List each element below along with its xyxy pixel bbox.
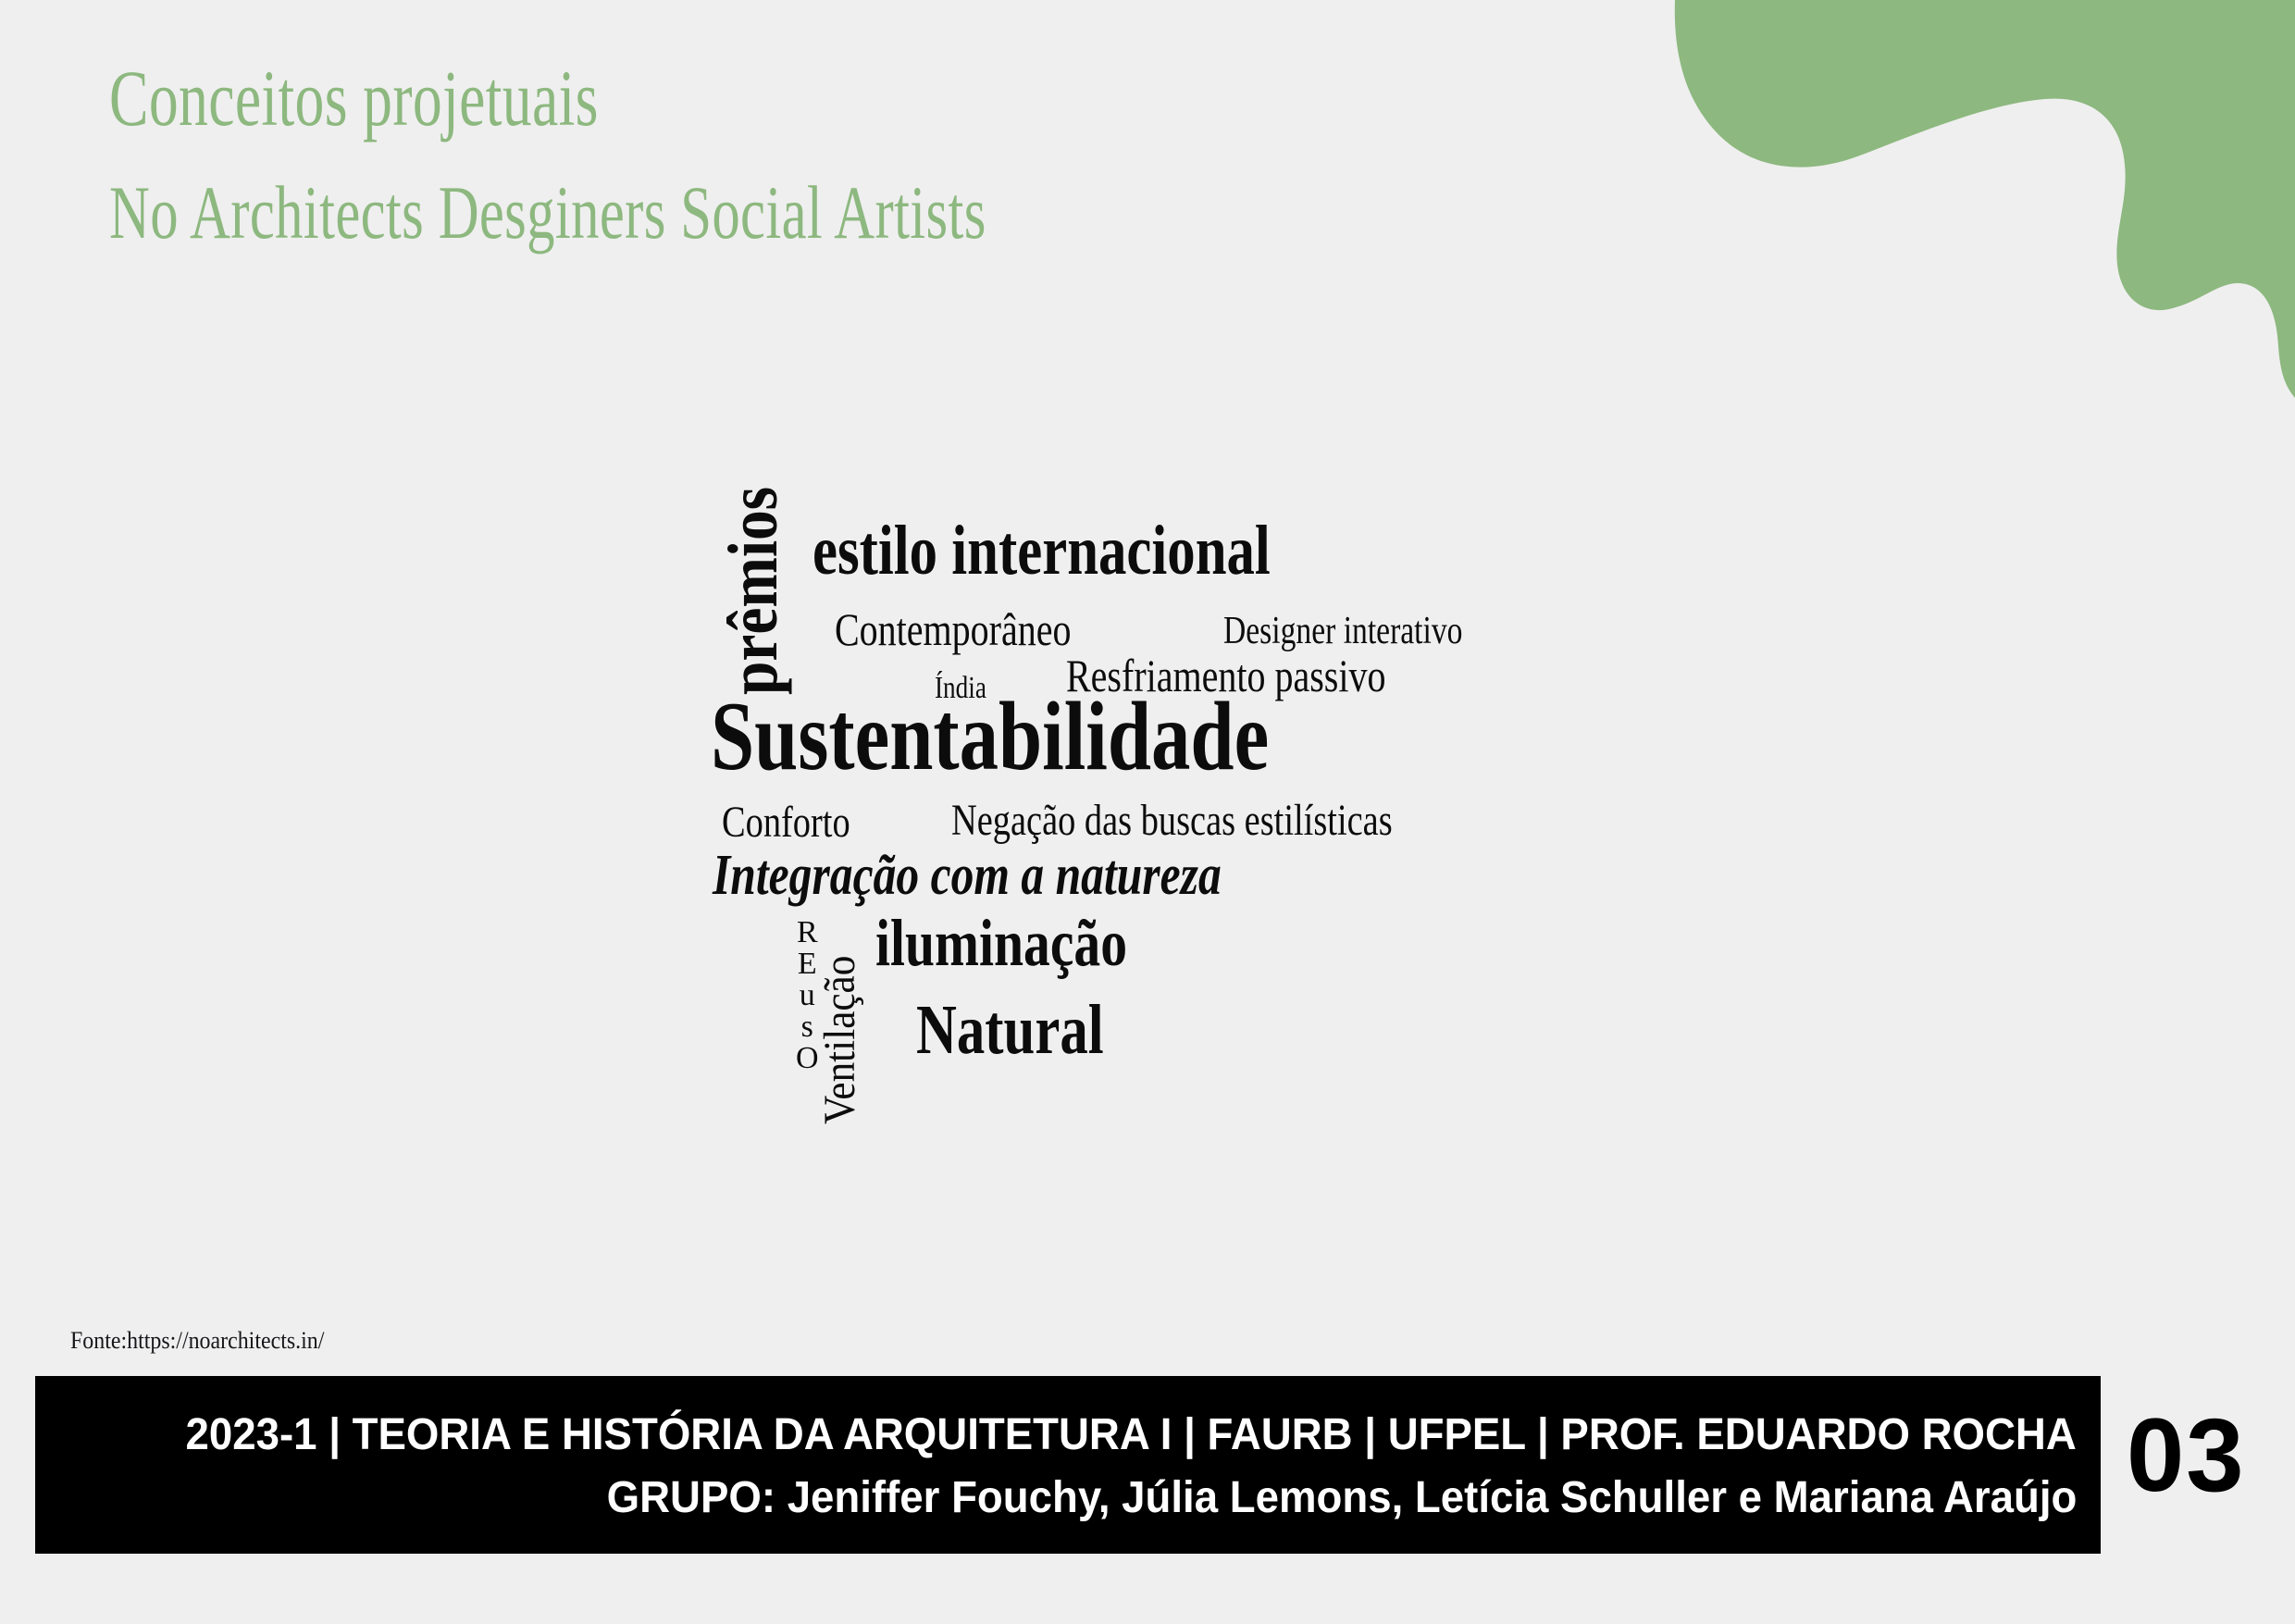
decorative-blob-container: [1555, 0, 2295, 398]
page-title-line-1: Conceitos projetuais: [109, 48, 1136, 148]
word-cloud-item-contemporaneo: Contemporâneo: [835, 606, 1072, 652]
reuso-letter: R: [797, 917, 818, 948]
page-title-line-2: No Architects Desginers Social Artists: [109, 165, 1136, 261]
page-title: Conceitos projetuais No Architects Desgi…: [109, 48, 1497, 261]
reuso-letter: u: [800, 980, 815, 1011]
word-cloud-item-iluminacao: iluminação: [875, 910, 1127, 976]
footer-group-members: GRUPO: Jeniffer Fouchy, Júlia Lemons, Le…: [606, 1467, 2077, 1530]
source-credit: Fonte:https://noarchitects.in/: [70, 1327, 324, 1355]
word-cloud-item-estilo-internacional: estilo internacional: [813, 515, 1271, 586]
word-cloud-item-premios: prêmios: [718, 487, 788, 695]
word-cloud-item-natural: Natural: [916, 995, 1104, 1065]
footer-bar: 2023-1 | TEORIA E HISTÓRIA DA ARQUITETUR…: [35, 1376, 2101, 1554]
word-cloud-item-integracao-com-a-natureza: Integração com a natureza: [713, 847, 1222, 904]
page-number: 03: [2127, 1386, 2275, 1525]
reuso-letter: s: [801, 1011, 813, 1043]
organic-blob-shape: [1555, 0, 2295, 398]
word-cloud-item-designer-interativo: Designer interativo: [1223, 612, 1462, 651]
word-cloud-item-ventilacao: Ventilação: [818, 956, 862, 1124]
reuso-letter: E: [798, 948, 817, 980]
word-cloud-item-negacao-das-buscas-estilisticas: Negação das buscas estilísticas: [951, 799, 1393, 843]
word-cloud: prêmios estilo internacional Contemporân…: [722, 467, 1573, 1050]
word-cloud-item-conforto: Conforto: [722, 800, 850, 845]
word-cloud-item-sustentabilidade: Sustentabilidade: [711, 688, 1269, 786]
footer-course-info: 2023-1 | TEORIA E HISTÓRIA DA ARQUITETUR…: [186, 1404, 2077, 1467]
